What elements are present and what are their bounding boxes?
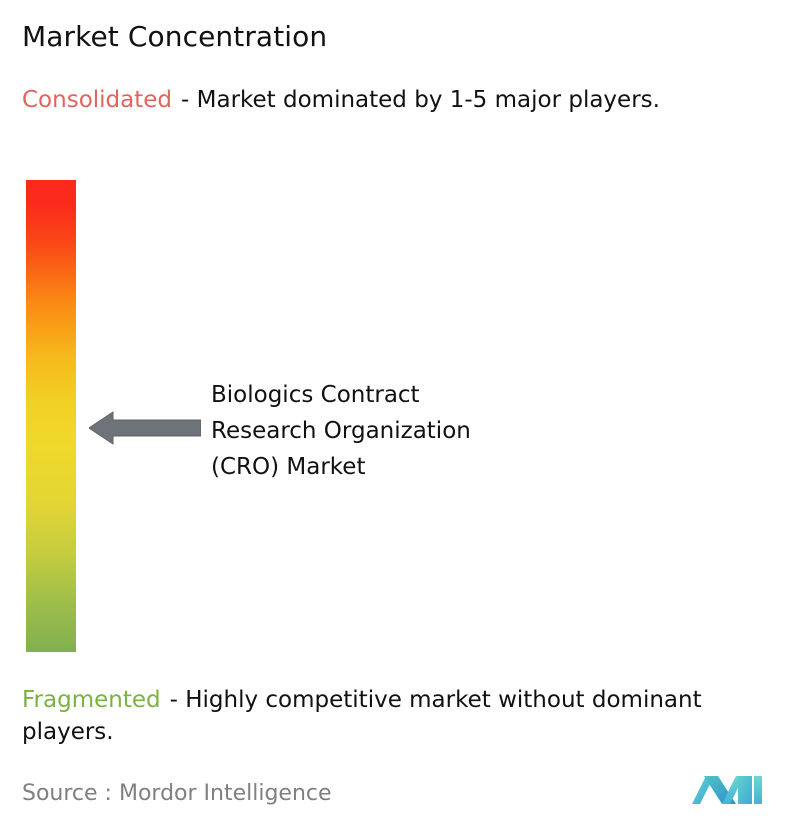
consolidated-description: - Market dominated by 1-5 major players.	[181, 87, 660, 113]
concentration-gradient-bar	[26, 180, 76, 652]
consolidated-caption: Consolidated- Market dominated by 1-5 ma…	[22, 84, 782, 116]
fragmented-caption: Fragmented- Highly competitive market wi…	[22, 684, 790, 748]
source-name: Mordor Intelligence	[119, 781, 332, 806]
callout-line-1: Biologics Contract	[211, 377, 631, 413]
market-callout-label: Biologics Contract Research Organization…	[211, 377, 631, 485]
fragmented-keyword: Fragmented	[22, 687, 161, 713]
mordor-intelligence-logo-icon	[692, 770, 770, 812]
source-prefix: Source :	[22, 781, 112, 806]
page-title: Market Concentration	[22, 19, 327, 55]
consolidated-keyword: Consolidated	[22, 87, 172, 113]
source-attribution: Source : Mordor Intelligence	[22, 779, 332, 809]
callout-line-3: (CRO) Market	[211, 449, 631, 485]
left-arrow-icon	[89, 409, 201, 447]
callout-line-2: Research Organization	[211, 413, 631, 449]
market-concentration-chart: Market Concentration Consolidated- Marke…	[0, 0, 796, 834]
